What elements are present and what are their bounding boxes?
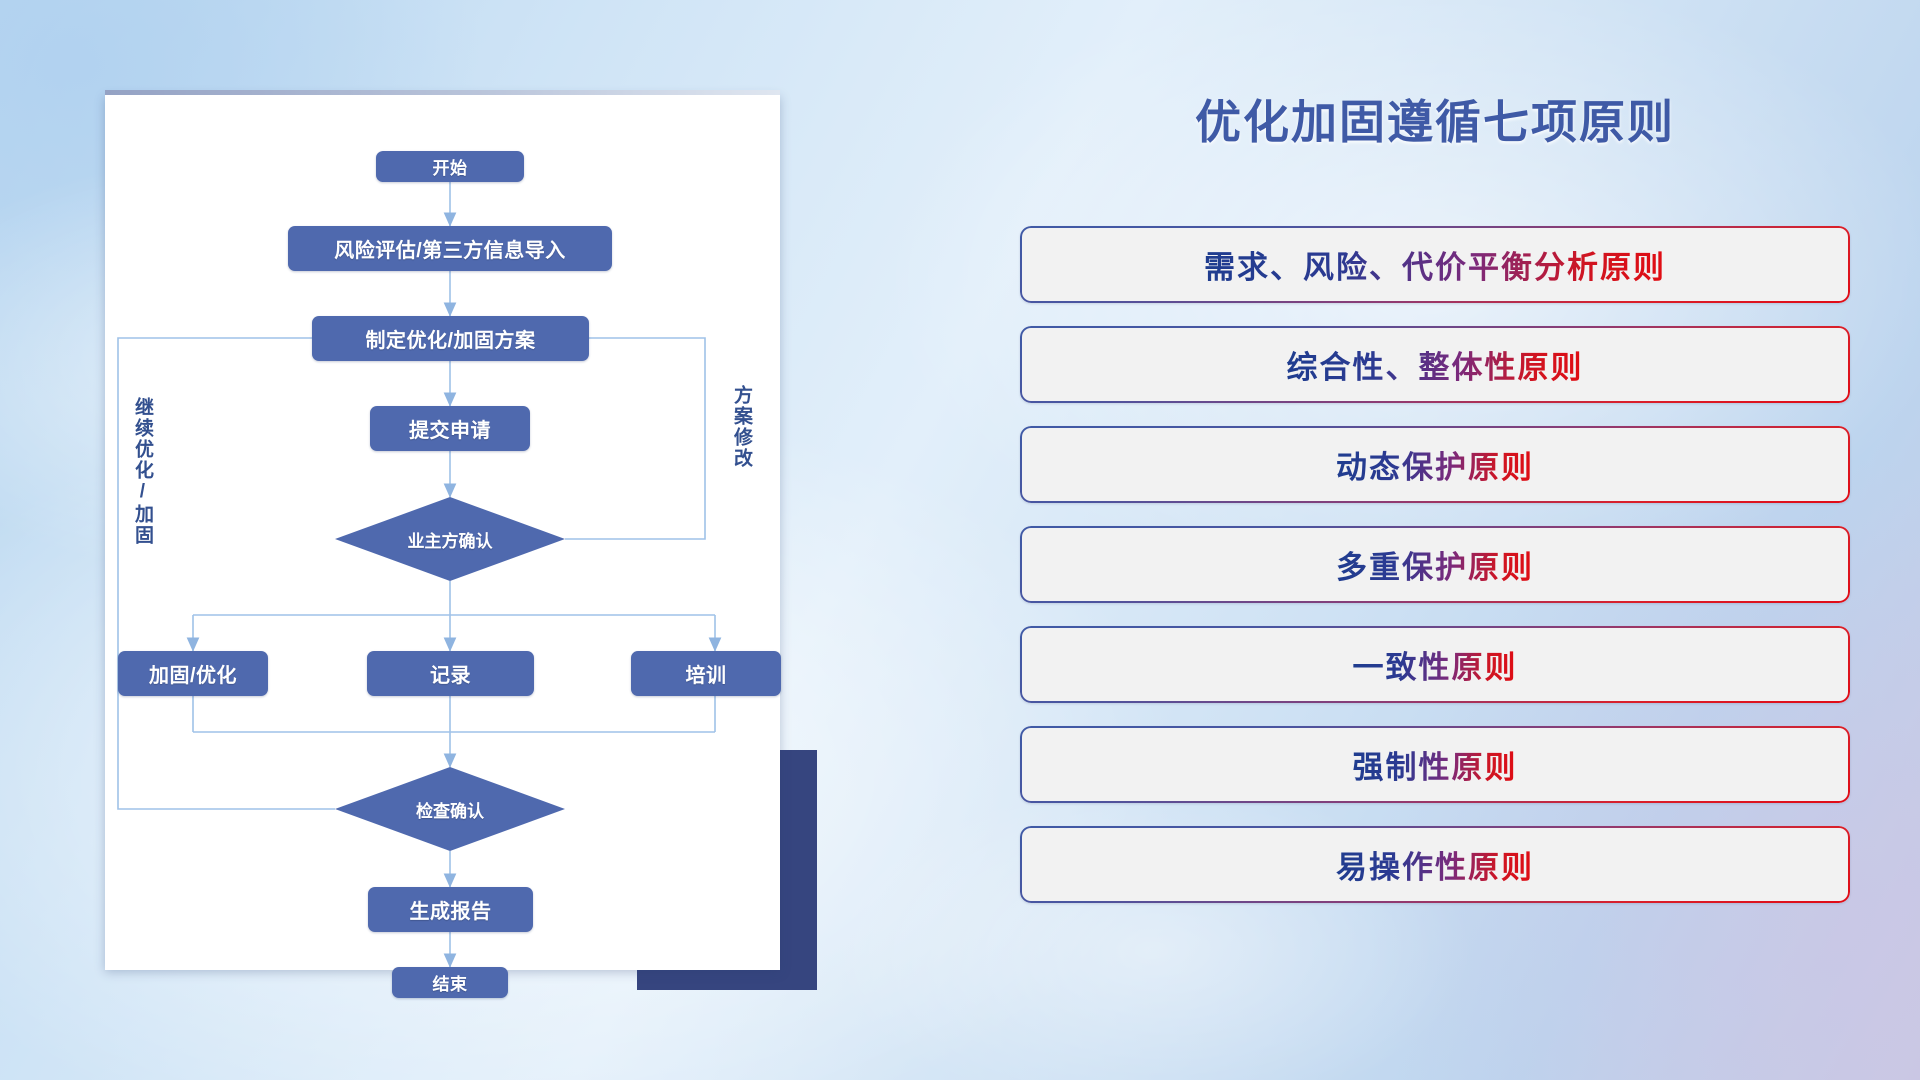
flow-node-label: 制定优化/加固方案 (365, 324, 535, 353)
principle-item[interactable]: 综合性、整体性原则 (1020, 326, 1850, 403)
principle-label: 动态保护原则 (1336, 442, 1534, 487)
flow-node-submit-application[interactable]: 提交申请 (370, 406, 530, 451)
flow-node-training[interactable]: 培训 (631, 651, 781, 696)
flow-node-generate-report[interactable]: 生成报告 (368, 887, 533, 932)
principle-label: 综合性、整体性原则 (1287, 342, 1584, 387)
principle-label: 强制性原则 (1353, 742, 1518, 787)
flow-node-label: 培训 (686, 659, 727, 688)
principle-item[interactable]: 易操作性原则 (1020, 826, 1850, 903)
flow-node-label: 提交申请 (409, 414, 491, 443)
principles-title: 优化加固遵循七项原则 (1020, 86, 1850, 152)
principle-item[interactable]: 一致性原则 (1020, 626, 1850, 703)
principle-label: 易操作性原则 (1336, 842, 1534, 887)
flow-node-start[interactable]: 开始 (376, 151, 524, 182)
principle-item[interactable]: 强制性原则 (1020, 726, 1850, 803)
principle-item[interactable]: 动态保护原则 (1020, 426, 1850, 503)
principle-item[interactable]: 需求、风险、代价平衡分析原则 (1020, 226, 1850, 303)
principles-panel: 优化加固遵循七项原则 需求、风险、代价平衡分析原则 综合性、整体性原则 动态保护… (1020, 86, 1850, 1006)
principle-item[interactable]: 多重保护原则 (1020, 526, 1850, 603)
flowchart: 开始 风险评估/第三方信息导入 制定优化/加固方案 提交申请 业主方确认 加固/… (105, 95, 780, 970)
flow-node-label: 生成报告 (410, 895, 492, 924)
flow-node-label: 开始 (433, 154, 468, 179)
flow-edge-label-continue-optimize: 继续优化/加固 (132, 397, 152, 546)
flow-node-end[interactable]: 结束 (392, 967, 508, 998)
flow-node-label: 记录 (430, 659, 471, 688)
principle-label: 需求、风险、代价平衡分析原则 (1204, 242, 1666, 287)
flow-node-label: 风险评估/第三方信息导入 (334, 234, 566, 263)
flow-node-plan[interactable]: 制定优化/加固方案 (312, 316, 589, 361)
principle-label: 一致性原则 (1353, 642, 1518, 687)
flow-node-risk-assessment[interactable]: 风险评估/第三方信息导入 (288, 226, 612, 271)
flow-node-owner-confirm[interactable]: 业主方确认 (335, 523, 565, 555)
flow-node-label: 加固/优化 (149, 659, 237, 688)
flow-node-label: 结束 (433, 970, 468, 995)
flow-edge-label-plan-revision: 方案修改 (731, 385, 751, 469)
flow-node-reinforce[interactable]: 加固/优化 (118, 651, 268, 696)
principles-list: 需求、风险、代价平衡分析原则 综合性、整体性原则 动态保护原则 多重保护原则 一… (1020, 226, 1850, 926)
flow-node-label: 检查确认 (416, 797, 484, 822)
principle-label: 多重保护原则 (1336, 542, 1534, 587)
flow-node-check-confirm[interactable]: 检查确认 (335, 793, 565, 825)
flow-node-label: 业主方确认 (408, 527, 493, 552)
flowchart-card: 开始 风险评估/第三方信息导入 制定优化/加固方案 提交申请 业主方确认 加固/… (105, 95, 780, 970)
flow-node-record[interactable]: 记录 (367, 651, 534, 696)
